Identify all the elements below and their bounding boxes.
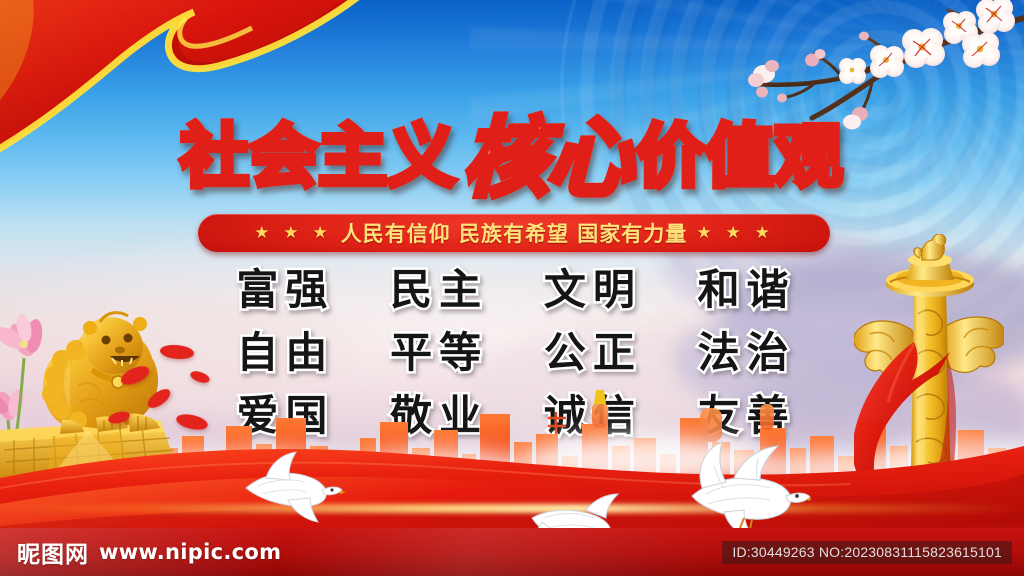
brand-url: www.nipic.com [99,540,281,564]
poster-title: 社会主义 核心 价值观 [0,104,1024,196]
title-segment-3: 价值观 [637,101,844,200]
watermark-id: ID:30449263 NO:20230831115823615101 [722,541,1012,564]
stars-left-icon: ★ ★ ★ [254,223,332,243]
stars-right-icon: ★ ★ ★ [696,223,774,243]
value-cell: 民主 [359,262,513,317]
value-cell: 和谐 [666,262,820,317]
value-cell: 文明 [513,262,667,317]
poster-canvas: 社会主义 核心 价值观 ★ ★ ★ 人民有信仰 民族有希望 国家有力量 ★ ★ … [0,0,1024,576]
brand-logo-cn: 昵图网 [17,535,89,569]
slogan-text: 人民有信仰 民族有希望 国家有力量 [341,218,688,248]
value-cell: 富强 [205,262,359,317]
slogan-banner: ★ ★ ★ 人民有信仰 民族有希望 国家有力量 ★ ★ ★ [198,214,830,252]
value-cell: 法治 [666,325,820,380]
gold-light-streak [0,504,1024,513]
title-segment-2: 核心 [463,88,631,213]
value-cell: 公正 [513,325,667,380]
dove-left [236,450,346,535]
title-segment-1: 社会主义 [180,101,456,200]
value-cell: 平等 [359,325,513,380]
value-cell: 自由 [205,325,359,380]
